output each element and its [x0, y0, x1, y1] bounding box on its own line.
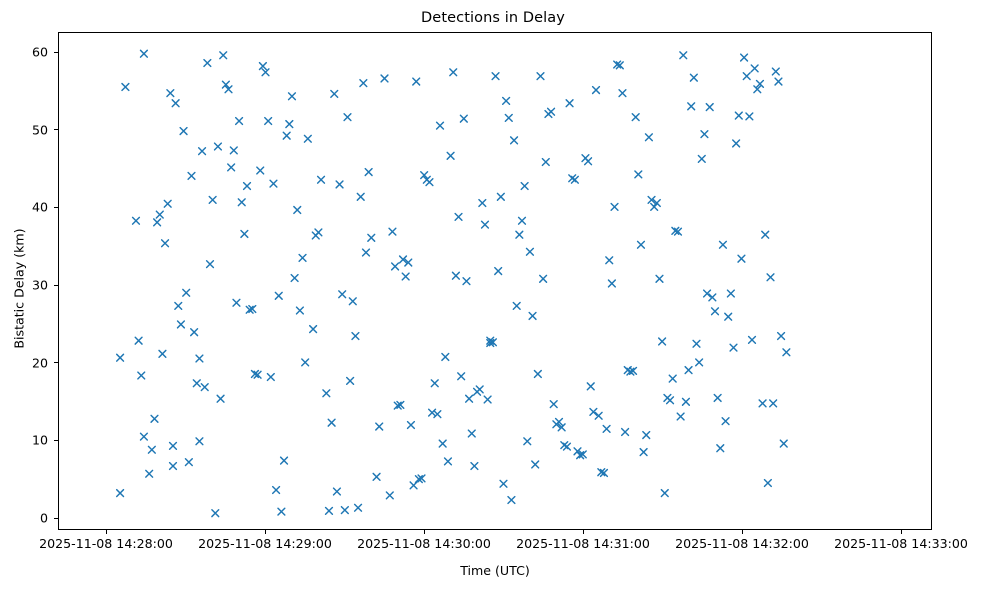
scatter-marker [241, 231, 248, 238]
scatter-marker [291, 275, 298, 282]
scatter-marker [193, 380, 200, 387]
scatter-marker [281, 457, 288, 464]
scatter-marker [238, 199, 245, 206]
scatter-marker [304, 135, 311, 142]
scatter-marker [656, 275, 663, 282]
scatter-marker [452, 272, 459, 279]
scatter-marker [259, 63, 266, 70]
scatter-marker [619, 90, 626, 97]
scatter-marker [275, 292, 282, 299]
scatter-marker [540, 275, 547, 282]
y-axis-tick-mark [54, 440, 58, 441]
scatter-marker [476, 386, 483, 393]
scatter-marker [772, 68, 779, 75]
scatter-marker [439, 440, 446, 447]
scatter-marker [204, 60, 211, 67]
scatter-marker [455, 214, 462, 221]
scatter-marker [482, 221, 489, 228]
scatter-marker [289, 93, 296, 100]
scatter-marker [196, 355, 203, 362]
scatter-marker [323, 390, 330, 397]
scatter-marker [199, 148, 206, 155]
scatter-marker [336, 181, 343, 188]
scatter-marker [693, 340, 700, 347]
scatter-marker [135, 337, 142, 344]
scatter-marker [720, 241, 727, 248]
scatter-marker [217, 395, 224, 402]
x-axis-tick-label: 2025-11-08 14:28:00 [39, 536, 173, 551]
x-axis-tick-label: 2025-11-08 14:30:00 [357, 536, 491, 551]
scatter-marker [730, 344, 737, 351]
scatter-marker [683, 398, 690, 405]
scatter-marker [783, 349, 790, 356]
scatter-marker [638, 241, 645, 248]
scatter-marker [643, 432, 650, 439]
scatter-marker [167, 90, 174, 97]
scatter-marker [622, 429, 629, 436]
scatter-marker [690, 74, 697, 81]
y-axis-tick-mark [54, 52, 58, 53]
scatter-marker [146, 470, 153, 477]
scatter-marker [178, 321, 185, 328]
x-axis-tick-label: 2025-11-08 14:33:00 [834, 536, 968, 551]
scatter-marker [133, 217, 140, 224]
scatter-marker [262, 69, 269, 76]
scatter-marker [355, 504, 362, 511]
scatter-marker [212, 510, 219, 517]
scatter-marker [170, 463, 177, 470]
scatter-marker [318, 176, 325, 183]
scatter-marker [725, 313, 732, 320]
y-axis-tick-mark [54, 518, 58, 519]
scatter-marker [460, 115, 467, 122]
y-axis-tick-mark [54, 129, 58, 130]
scatter-marker [585, 158, 592, 165]
x-axis-label: Time (UTC) [58, 563, 932, 578]
scatter-marker [635, 171, 642, 178]
scatter-marker [770, 400, 777, 407]
scatter-marker [302, 359, 309, 366]
scatter-marker [669, 375, 676, 382]
scatter-marker [297, 307, 304, 314]
scatter-marker [532, 461, 539, 468]
scatter-marker [513, 302, 520, 309]
scatter-marker [688, 103, 695, 110]
x-axis-tick-label: 2025-11-08 14:31:00 [516, 536, 650, 551]
scatter-marker [447, 152, 454, 159]
scatter-marker [484, 396, 491, 403]
scatter-marker [640, 449, 647, 456]
scatter-marker [714, 395, 721, 402]
scatter-marker [141, 433, 148, 440]
scatter-marker [265, 118, 272, 125]
scatter-marker [122, 84, 129, 91]
scatter-marker [341, 507, 348, 514]
scatter-marker [273, 487, 280, 494]
scatter-marker [196, 438, 203, 445]
scatter-marker [381, 75, 388, 82]
scatter-marker [426, 179, 433, 186]
scatter-marker [733, 140, 740, 147]
scatter-marker [368, 234, 375, 241]
scatter-marker [632, 114, 639, 121]
scatter-marker [571, 176, 578, 183]
scatter-marker [413, 78, 420, 85]
scatter-marker [548, 108, 555, 115]
scatter-marker [762, 231, 769, 238]
scatter-marker [220, 52, 227, 59]
scatter-marker [759, 400, 766, 407]
scatter-marker [159, 350, 166, 357]
scatter-marker [564, 443, 571, 450]
scatter-marker [550, 401, 557, 408]
y-axis-tick-mark [54, 285, 58, 286]
scatter-marker [257, 167, 264, 174]
scatter-marker [442, 354, 449, 361]
scatter-marker [328, 419, 335, 426]
scatter-marker [685, 367, 692, 374]
scatter-marker [310, 326, 317, 333]
scatter-marker [680, 52, 687, 59]
scatter-marker [408, 422, 415, 429]
scatter-marker [722, 418, 729, 425]
scatter-marker [154, 219, 161, 226]
scatter-marker [505, 115, 512, 122]
scatter-marker [363, 249, 370, 256]
scatter-marker [608, 280, 615, 287]
scatter-marker [780, 440, 787, 447]
scatter-marker [746, 113, 753, 120]
x-axis-tick-mark [106, 530, 107, 534]
scatter-marker [183, 289, 190, 296]
scatter-marker [334, 488, 341, 495]
scatter-marker [230, 147, 237, 154]
scatter-marker [701, 131, 708, 138]
scatter-marker [201, 384, 208, 391]
scatter-marker [283, 132, 290, 139]
scatter-marker [180, 128, 187, 135]
scatter-marker [667, 397, 674, 404]
scatter-marker [503, 97, 510, 104]
scatter-marker [236, 118, 243, 125]
scatter-marker [170, 442, 177, 449]
scatter-marker [712, 308, 719, 315]
scatter-marker [164, 200, 171, 207]
chart-title: Detections in Delay [0, 10, 986, 26]
scatter-marker [492, 73, 499, 80]
scatter-marker [534, 371, 541, 378]
x-axis-tick-label: 2025-11-08 14:32:00 [675, 536, 809, 551]
scatter-marker [326, 507, 333, 514]
scatter-marker [386, 492, 393, 499]
scatter-marker [659, 338, 666, 345]
scatter-marker [138, 372, 145, 379]
scatter-marker [389, 228, 396, 235]
scatter-marker [191, 329, 198, 336]
scatter-marker [185, 459, 192, 466]
scatter-marker [431, 380, 438, 387]
scatter-marker [764, 480, 771, 487]
scatter-marker [741, 54, 748, 61]
scatter-marker [151, 415, 158, 422]
y-axis-tick-mark [54, 207, 58, 208]
scatter-marker [529, 313, 536, 320]
scatter-marker [373, 473, 380, 480]
scatter-marker [593, 87, 600, 94]
x-axis-tick-label: 2025-11-08 14:29:00 [198, 536, 332, 551]
scatter-marker [339, 291, 346, 298]
scatter-marker [392, 263, 399, 270]
scatter-marker [717, 445, 724, 452]
scatter-marker [524, 438, 531, 445]
scatter-marker [519, 217, 526, 224]
scatter-marker [775, 78, 782, 85]
scatter-marker [566, 100, 573, 107]
scatter-marker [148, 446, 155, 453]
scatter-marker [352, 333, 359, 340]
scatter-marker [349, 298, 356, 305]
scatter-marker [500, 480, 507, 487]
scatter-marker [698, 156, 705, 163]
x-axis-tick-mark [265, 530, 266, 534]
y-axis-label: Bistatic Delay (km) [12, 40, 27, 538]
scatter-marker [646, 134, 653, 141]
scatter-marker [315, 229, 322, 236]
scatter-marker [751, 65, 758, 72]
scatter-marker [294, 207, 301, 214]
scatter-marker [497, 193, 504, 200]
scatter-marker [516, 231, 523, 238]
scatter-marker [661, 490, 668, 497]
scatter-marker [286, 121, 293, 128]
scatter-marker [207, 261, 214, 268]
scatter-marker [344, 114, 351, 121]
scatter-marker [162, 240, 169, 247]
scatter-marker [357, 193, 364, 200]
scatter-marker [537, 73, 544, 80]
scatter-marker [743, 73, 750, 80]
scatter-marker [706, 104, 713, 111]
scatter-marker [587, 383, 594, 390]
scatter-marker [677, 413, 684, 420]
scatter-marker [738, 255, 745, 262]
scatter-marker [606, 257, 613, 264]
scatter-marker [270, 180, 277, 187]
y-axis-tick-mark [54, 362, 58, 363]
scatter-marker [651, 203, 658, 210]
scatter-marker [527, 248, 534, 255]
scatter-marker [749, 337, 756, 344]
scatter-marker [437, 122, 444, 129]
scatter-marker [542, 159, 549, 166]
scatter-marker [471, 463, 478, 470]
scatter-marker [117, 490, 124, 497]
scatter-marker [244, 183, 251, 190]
scatter-marker [466, 395, 473, 402]
scatter-marker [508, 497, 515, 504]
scatter-marker [175, 302, 182, 309]
scatter-marker [727, 290, 734, 297]
scatter-marker [299, 255, 306, 262]
scatter-marker [463, 278, 470, 285]
scatter-marker [767, 274, 774, 281]
scatter-marker [331, 91, 338, 98]
scatter-marker [696, 359, 703, 366]
x-axis-tick-mark [742, 530, 743, 534]
x-axis-tick-mark [583, 530, 584, 534]
scatter-marker [402, 273, 409, 280]
scatter-marker [278, 508, 285, 515]
scatter-series [59, 33, 931, 529]
plot-area [58, 32, 932, 530]
scatter-marker [458, 373, 465, 380]
scatter-marker [735, 112, 742, 119]
scatter-marker [365, 169, 372, 176]
scatter-marker [209, 197, 216, 204]
scatter-marker [347, 378, 354, 385]
scatter-marker [611, 203, 618, 210]
scatter-marker [360, 80, 367, 87]
scatter-marker [495, 268, 502, 275]
scatter-marker [228, 164, 235, 171]
scatter-marker [215, 143, 222, 150]
x-axis-tick-mark [901, 530, 902, 534]
scatter-marker [156, 211, 163, 218]
scatter-marker [188, 173, 195, 180]
scatter-marker [376, 423, 383, 430]
scatter-marker [468, 430, 475, 437]
scatter-marker [778, 333, 785, 340]
scatter-marker [233, 299, 240, 306]
scatter-marker [511, 137, 518, 144]
scatter-marker [450, 69, 457, 76]
scatter-marker [521, 183, 528, 190]
scatter-marker [117, 354, 124, 361]
scatter-marker [603, 425, 610, 432]
scatter-marker [172, 100, 179, 107]
figure-canvas: Detections in Delay 2025-11-08 14:28:002… [0, 0, 986, 590]
scatter-marker [445, 458, 452, 465]
scatter-marker [267, 374, 274, 381]
x-axis-tick-mark [424, 530, 425, 534]
scatter-marker [141, 50, 148, 57]
scatter-marker [479, 200, 486, 207]
scatter-marker [434, 411, 441, 418]
